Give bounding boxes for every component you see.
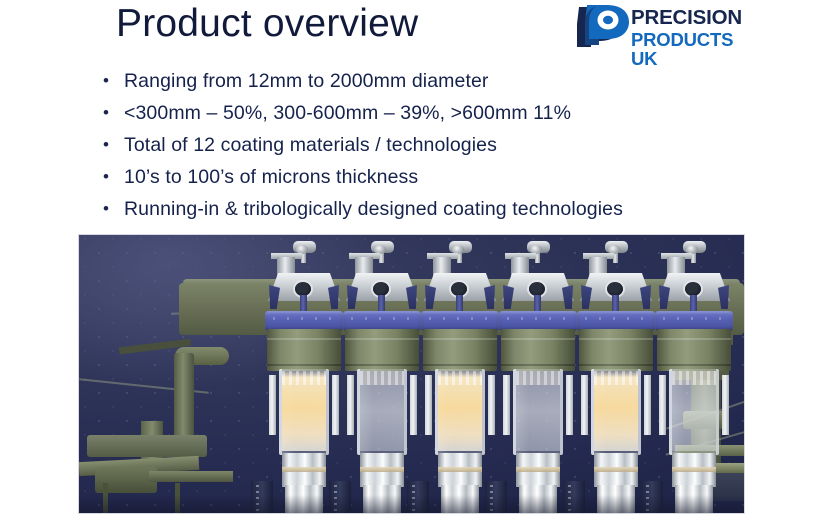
column-port-icon — [295, 282, 311, 296]
logo-line-products-uk: PRODUCTS UK — [631, 30, 747, 69]
column-blue-collar — [265, 311, 343, 331]
column-glass-tube — [513, 369, 563, 455]
page-title: Product overview — [116, 2, 418, 46]
column-glass-tube — [591, 369, 641, 455]
bullet-marker-icon: • — [96, 98, 124, 128]
bullet-marker-icon: • — [96, 162, 124, 192]
coating-column-unit — [421, 235, 499, 513]
column-port-icon — [607, 282, 623, 296]
column-glass-tube — [435, 369, 485, 455]
left-horizontal-pipe — [87, 435, 207, 457]
bullet-item: • <300mm – 50%, 300-600mm – 39%, >600mm … — [96, 98, 786, 130]
column-green-drum — [267, 329, 341, 371]
coating-column-unit — [265, 235, 343, 513]
column-green-drum — [657, 329, 731, 371]
bullet-marker-icon: • — [96, 66, 124, 96]
bullet-text: Running-in & tribologically designed coa… — [124, 194, 623, 224]
coating-column-unit — [499, 235, 577, 513]
bottom-left-pipe — [149, 471, 233, 482]
bullet-item: • Ranging from 12mm to 2000mm diameter — [96, 66, 786, 98]
column-flame-glow — [282, 371, 326, 451]
slide: Product overview PRECISION PRODUCTS UK •… — [0, 0, 830, 514]
coating-column-unit — [577, 235, 655, 513]
column-green-drum — [501, 329, 575, 371]
column-blue-collar — [343, 311, 421, 331]
logo-line-precision: PRECISION — [631, 8, 747, 29]
precision-p-logo-icon — [573, 3, 633, 47]
bullet-text: Total of 12 coating materials / technolo… — [124, 130, 497, 160]
bullet-marker-icon: • — [96, 130, 124, 160]
logo-wordmark: PRECISION PRODUCTS UK — [631, 8, 747, 68]
industrial-coating-plant-photo — [78, 234, 745, 514]
column-flame-glow — [594, 371, 638, 451]
bullet-list: • Ranging from 12mm to 2000mm diameter •… — [96, 66, 786, 226]
column-glass-tube — [279, 369, 329, 455]
column-port-icon — [373, 282, 389, 296]
bullet-marker-icon: • — [96, 194, 124, 224]
column-blue-collar — [421, 311, 499, 331]
column-green-drum — [579, 329, 653, 371]
column-flame-glow — [516, 371, 560, 451]
company-logo: PRECISION PRODUCTS UK — [573, 3, 747, 49]
coating-column-unit — [655, 235, 733, 513]
bullet-text: <300mm – 50%, 300-600mm – 39%, >600mm 11… — [124, 98, 571, 128]
column-port-icon — [451, 282, 467, 296]
column-flame-glow — [672, 371, 716, 451]
column-port-icon — [529, 282, 545, 296]
coating-column-unit — [343, 235, 421, 513]
column-green-drum — [423, 329, 497, 371]
photo-foreground-shadow — [79, 495, 744, 513]
bullet-text: 10’s to 100’s of microns thickness — [124, 162, 418, 192]
column-blue-collar — [655, 311, 733, 331]
column-flame-glow — [360, 371, 404, 451]
column-blue-collar — [577, 311, 655, 331]
bullet-item: • Total of 12 coating materials / techno… — [96, 130, 786, 162]
bullet-text: Ranging from 12mm to 2000mm diameter — [124, 66, 489, 96]
column-blue-collar — [499, 311, 577, 331]
bullet-item: • 10’s to 100’s of microns thickness — [96, 162, 786, 194]
column-glass-tube — [357, 369, 407, 455]
column-green-drum — [345, 329, 419, 371]
column-port-icon — [685, 282, 701, 296]
bullet-item: • Running-in & tribologically designed c… — [96, 194, 786, 226]
column-glass-tube — [669, 369, 719, 455]
column-flame-glow — [438, 371, 482, 451]
